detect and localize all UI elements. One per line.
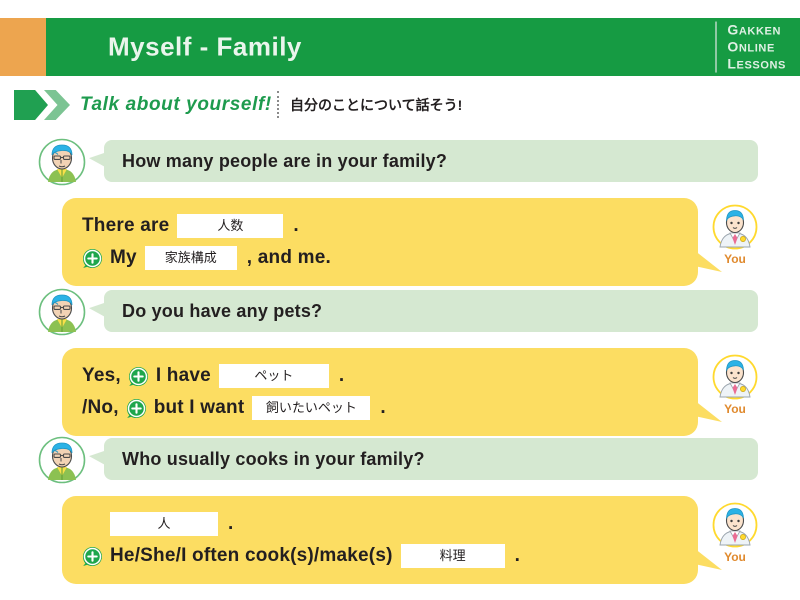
answer-line: My家族構成, and me. [62,242,698,274]
answer-text: My [110,247,137,269]
answer-text: . [339,365,344,387]
answer-text: There are [82,215,169,237]
page-header: Myself - Family GAKKEN ONLINE LESSONS [0,18,800,76]
question-text: Do you have any pets? [122,301,322,322]
answer-text: but I want [154,397,245,419]
subheading-english: Talk about yourself! [80,94,272,116]
chevron-solid-icon [14,90,48,120]
question-bubble: How many people are in your family? [104,140,758,182]
subheading-divider [277,91,279,118]
teacher-avatar-icon [38,288,86,336]
double-chevron-right-icon [14,90,72,120]
answer-bubble: There are人数. My家族構成, and me. [62,198,698,286]
plus-circle-icon[interactable] [82,546,103,567]
answer-text: . [515,545,520,567]
brand-line-1: GAKKEN [727,22,786,39]
question-bubble: Do you have any pets? [104,290,758,332]
answer-input-field[interactable]: 人 [110,512,218,536]
subheading-japanese: 自分のことについて話そう! [290,95,462,115]
student-avatar-icon [712,204,758,250]
answer-input-field[interactable]: 家族構成 [145,246,237,270]
answer-text: . [380,397,385,419]
answer-line: 人. [62,508,698,540]
plus-circle-icon[interactable] [128,366,149,387]
answer-input-field[interactable]: 料理 [401,544,505,568]
student-avatar-icon [712,354,758,400]
plus-circle-icon[interactable] [126,398,147,419]
answer-input-field[interactable]: 人数 [177,214,283,238]
teacher-avatar-icon [38,138,86,186]
you-label: You [705,252,765,266]
question-bubble: Who usually cooks in your family? [104,438,758,480]
answer-line: Yes, I haveペット. [62,360,698,392]
plus-circle-icon[interactable] [82,248,103,269]
you-label: You [705,550,765,564]
answer-text: Yes, [82,365,121,387]
answer-text: . [293,215,298,237]
brand-line-3: LESSONS [727,55,786,72]
answer-input-field[interactable]: 飼いたいペット [252,396,370,420]
answer-text: I have [156,365,211,387]
gakken-online-lessons-logo: GAKKEN ONLINE LESSONS [715,22,786,73]
answer-text: He/She/I often cook(s)/make(s) [110,545,393,567]
answer-input-field[interactable]: ペット [219,364,329,388]
question-row: How many people are in your family? [0,138,800,188]
brand-line-2: ONLINE [727,39,786,56]
question-row: Do you have any pets? [0,288,800,338]
you-label: You [705,402,765,416]
student-avatar-icon [712,502,758,548]
question-row: Who usually cooks in your family? [0,436,800,486]
question-text: Who usually cooks in your family? [122,449,425,470]
answer-line: He/She/I often cook(s)/make(s)料理. [62,540,698,572]
header-green-band: Myself - Family GAKKEN ONLINE LESSONS [46,18,800,76]
answer-text: /No, [82,397,119,419]
answer-bubble: Yes, I haveペット./No, but I want飼いたいペット. [62,348,698,436]
teacher-avatar-icon [38,436,86,484]
page-title: Myself - Family [108,32,302,63]
answer-line: /No, but I want飼いたいペット. [62,392,698,424]
question-text: How many people are in your family? [122,151,447,172]
section-subheading: Talk about yourself! 自分のことについて話そう! [0,88,800,122]
answer-bubble: 人. He/She/I often cook(s)/make(s)料理. [62,496,698,584]
answer-line: There are人数. [62,210,698,242]
answer-text: , and me. [247,247,331,269]
answer-text: . [228,513,233,535]
